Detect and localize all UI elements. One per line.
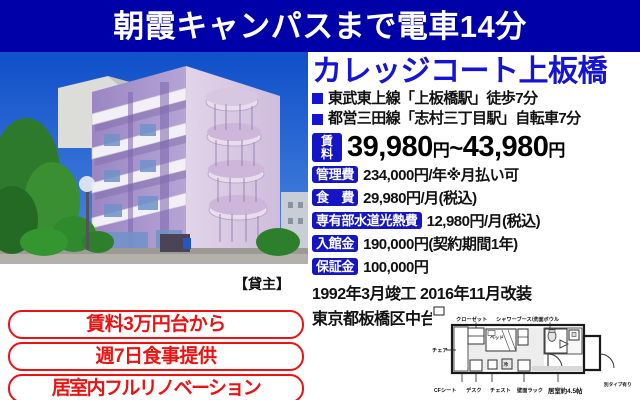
- advertisement-page: 朝霞キャンパスまで電車14分: [0, 0, 640, 400]
- fee-label-entrance: 入館金: [312, 235, 358, 252]
- fee-label-utilities: 専有部水道光熱費: [312, 212, 422, 229]
- floorplan-label-room-size: 居室約4.5帖: [548, 386, 583, 395]
- banner-headline: 朝霞キャンパスまで電車14分: [113, 11, 526, 42]
- rent-max-unit: 円: [548, 141, 565, 160]
- fee-value-utilities: 12,980円/月(税込): [427, 210, 541, 231]
- floorplan-label-shower: シャワーブース/洗面ボウル: [496, 315, 560, 323]
- landlord-tag: 【貸主】: [234, 274, 290, 294]
- floorplan-label-cf-sheet: CFシート: [434, 387, 456, 394]
- access-text-1: 東武東上線「上板橋駅」徒歩7分: [328, 90, 537, 109]
- rent-badge: 賃 料: [312, 133, 342, 161]
- feature-pill-renovation: 居室内フルリノベーション: [8, 374, 304, 400]
- rent-min: 39,980: [347, 131, 433, 163]
- rent-value: 39,980円~43,980円: [347, 133, 565, 162]
- feature-pill-meals-label: 週7日食事提供: [95, 347, 216, 366]
- floorplan-label-wall-rack: 壁面ラック: [517, 386, 543, 394]
- floorplan-label-fridge: 冷: [504, 361, 509, 368]
- fee-row-utilities: 専有部水道光熱費 12,980円/月(税込): [312, 210, 640, 231]
- fee-label-management: 管理費: [312, 166, 358, 183]
- floorplan-label-closet: クローゼット: [456, 315, 487, 323]
- rent-max: 43,980: [463, 131, 549, 163]
- fee-row-meal: 食 費 29,980円/月(税込): [312, 187, 640, 208]
- rent-row: 賃 料 39,980円~43,980円: [312, 133, 640, 162]
- fee-row-management: 管理費 234,000円/年※月払い可: [312, 164, 640, 185]
- property-info-panel: カレッジコート上板橋 東武東上線「上板橋駅」徒歩7分 都営三田線「志村三丁目駅」…: [312, 56, 640, 329]
- bullet-square-icon: [312, 114, 323, 125]
- property-title: カレッジコート上板橋: [312, 56, 640, 88]
- fee-label-meal: 食 費: [312, 189, 358, 206]
- rent-badge-line1: 賃: [321, 135, 333, 147]
- header-banner: 朝霞キャンパスまで電車14分: [0, 0, 640, 52]
- bullet-square-icon: [312, 93, 323, 104]
- rent-min-unit: 円: [433, 141, 450, 160]
- floorplan-label-chest: チェスト: [490, 387, 511, 394]
- access-text-2: 都営三田線「志村三丁目駅」自転車7分: [328, 110, 581, 129]
- feature-pill-renovation-label: 居室内フルリノベーション: [52, 379, 260, 398]
- fee-row-deposit: 保証金 100,000円: [312, 256, 640, 277]
- fee-value-management: 234,000円/年※月払い可: [363, 164, 518, 185]
- feature-pill-meals: 週7日食事提供: [8, 342, 304, 371]
- feature-pill-rent-label: 賃料3万円台から: [86, 315, 226, 334]
- fee-value-entrance: 190,000円(契約期間1年): [363, 233, 518, 254]
- building-exterior-photo: [0, 52, 308, 264]
- access-line-1: 東武東上線「上板橋駅」徒歩7分: [312, 90, 640, 109]
- rent-badge-line2: 料: [321, 148, 333, 160]
- floor-plan-diagram: .fpl{font-family:"Liberation Sans","Deja…: [432, 306, 638, 398]
- fee-value-meal: 29,980円/月(税込): [363, 187, 477, 208]
- fee-value-deposit: 100,000円: [363, 256, 428, 277]
- floorplan-label-other-type: 別タイプ有り: [603, 381, 632, 388]
- fee-label-deposit: 保証金: [312, 258, 358, 275]
- access-line-2: 都営三田線「志村三丁目駅」自転車7分: [312, 110, 640, 129]
- floorplan-label-chair: チェア: [432, 347, 448, 354]
- feature-pill-rent: 賃料3万円台から: [8, 310, 304, 339]
- fee-row-entrance: 入館金 190,000円(契約期間1年): [312, 233, 640, 254]
- rent-separator: ~: [449, 135, 463, 162]
- feature-pill-list: 賃料3万円台から 週7日食事提供 居室内フルリノベーション: [8, 310, 304, 400]
- floorplan-label-desk: デスク: [466, 386, 482, 394]
- built-date: 1992年3月竣工 2016年11月改装: [312, 280, 640, 304]
